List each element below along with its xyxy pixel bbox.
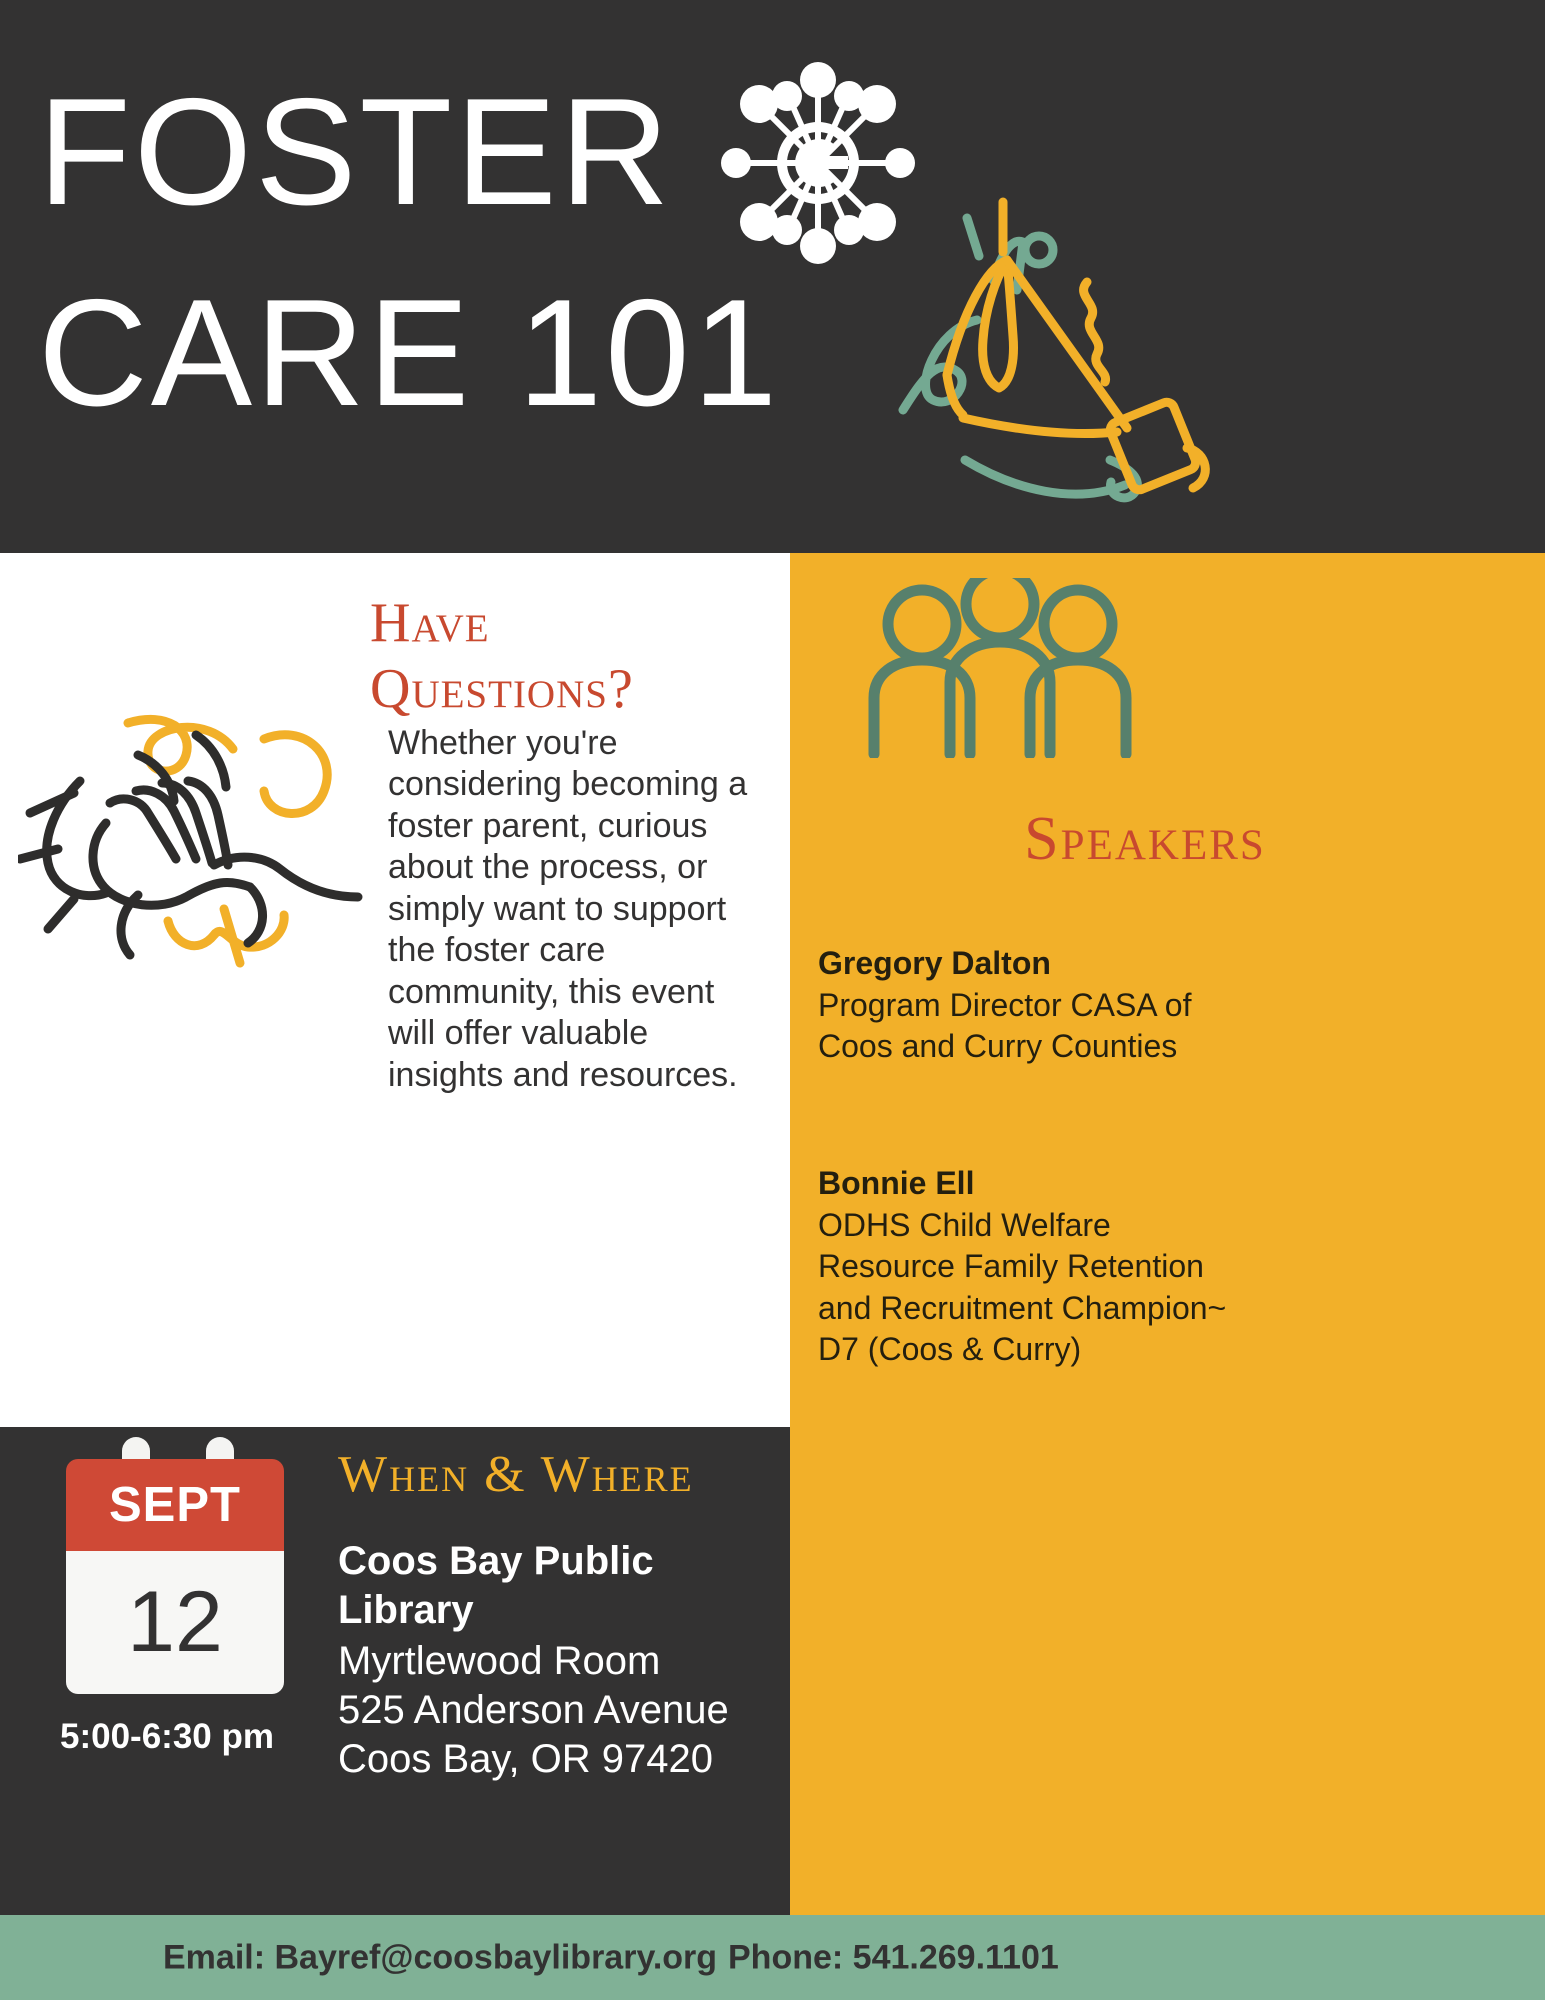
address-line-1: Myrtlewood Room	[338, 1637, 788, 1686]
three-people-icon	[860, 578, 1140, 758]
speaker-role: Program Director CASA of Coos and Curry …	[818, 985, 1228, 1068]
network-starburst-icon	[718, 58, 918, 268]
flyer-page: FOSTER CARE 101	[0, 0, 1545, 2000]
speaker-name: Bonnie Ell	[818, 1163, 1228, 1205]
speakers-heading: Speakers	[790, 808, 1545, 870]
speaker-entry: Gregory Dalton Program Director CASA of …	[818, 943, 1228, 1068]
questions-panel: Have Questions? Whether you're consideri…	[0, 553, 790, 1427]
calendar-month: SEPT	[66, 1459, 284, 1551]
footer-email[interactable]: Email: Bayref@coosbaylibrary.org	[163, 1938, 717, 1977]
have-questions-heading: Have Questions?	[370, 591, 770, 722]
address-line-2: 525 Anderson Avenue	[338, 1686, 788, 1735]
calendar-day: 12	[66, 1551, 284, 1694]
venue-name: Coos Bay Public Library	[338, 1537, 788, 1635]
page-title: FOSTER CARE 101	[38, 52, 780, 453]
questions-body-text: Whether you're considering becoming a fo…	[388, 723, 748, 1096]
megaphone-icon	[895, 160, 1225, 520]
contact-footer: Email: Bayref@coosbaylibrary.org Phone: …	[0, 1915, 1545, 2000]
when-where-heading: When & Where	[338, 1449, 758, 1501]
title-line-1: FOSTER	[38, 52, 780, 253]
title-line-2: CARE 101	[38, 253, 780, 454]
when-where-panel: SEPT 12 5:00-6:30 pm When & Where Coos B…	[0, 1427, 790, 1915]
header-banner: FOSTER CARE 101	[0, 0, 1545, 553]
address-line-3: Coos Bay, OR 97420	[338, 1735, 788, 1784]
heading-line-1: Have	[370, 591, 770, 657]
footer-phone[interactable]: Phone: 541.269.1101	[728, 1938, 1059, 1977]
stacked-hands-icon	[18, 663, 378, 993]
speakers-panel: Speakers Gregory Dalton Program Director…	[790, 553, 1545, 1915]
heading-line-2: Questions?	[370, 657, 770, 723]
speaker-role: ODHS Child Welfare Resource Family Reten…	[818, 1205, 1228, 1371]
speaker-entry: Bonnie Ell ODHS Child Welfare Resource F…	[818, 1163, 1228, 1371]
calendar-icon: SEPT 12	[66, 1459, 284, 1694]
speaker-name: Gregory Dalton	[818, 943, 1228, 985]
venue-address: Myrtlewood Room 525 Anderson Avenue Coos…	[338, 1637, 788, 1783]
